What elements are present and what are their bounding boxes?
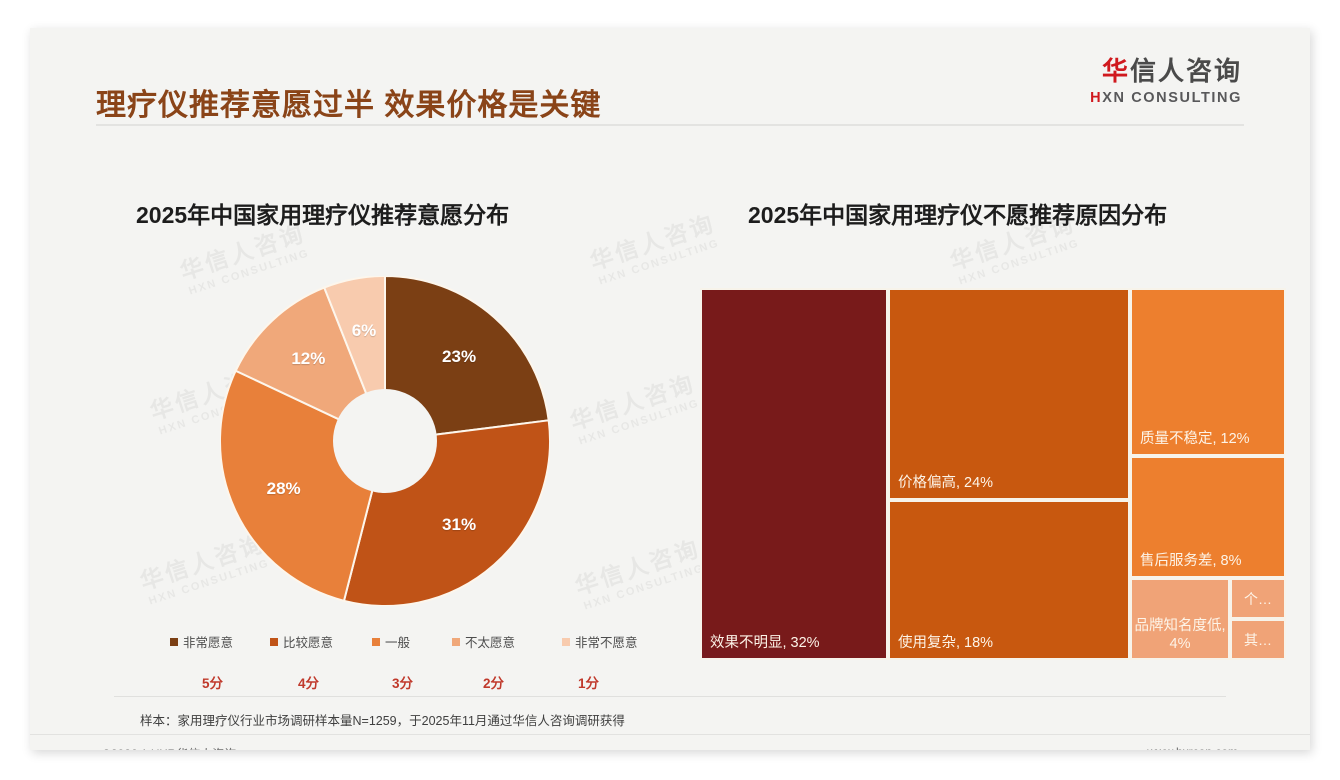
header-divider — [96, 124, 1244, 126]
legend-swatch-icon — [372, 638, 380, 646]
legend-item[interactable]: 非常愿意 — [170, 632, 233, 651]
treemap-tile-label: 质量不稳定, 12% — [1140, 427, 1250, 448]
website-text: www.hxrcon.com — [1147, 745, 1238, 750]
reasons-treemap-chart: 效果不明显, 32%价格偏高, 24%使用复杂, 18%质量不稳定, 12%售后… — [700, 288, 1286, 660]
watermark: 华信人咨询 HXN CONSULTING — [572, 534, 709, 615]
watermark-line2: HXN CONSULTING — [580, 561, 708, 614]
legend-label: 不太愿意 — [465, 632, 515, 651]
legend-swatch-icon — [170, 638, 178, 646]
logo-chinese: 华信人咨询 — [1090, 58, 1242, 84]
donut-slice-label: 6% — [352, 321, 377, 341]
treemap-tile[interactable]: 其… — [1230, 619, 1286, 660]
legend-item[interactable]: 比较愿意 — [270, 632, 333, 651]
watermark-line1: 华信人咨询 — [587, 209, 720, 277]
footnote-divider — [114, 696, 1226, 697]
treemap-tile[interactable]: 效果不明显, 32% — [700, 288, 888, 660]
legend-label: 非常不愿意 — [575, 632, 638, 651]
legend-item[interactable]: 一般 — [372, 632, 410, 651]
left-chart-title: 2025年中国家用理疗仪推荐意愿分布 — [136, 196, 509, 230]
treemap-tile-label: 个… — [1232, 589, 1284, 609]
watermark-line2: HXN CONSULTING — [955, 236, 1083, 289]
logo-english: HXN CONSULTING — [1090, 91, 1242, 106]
treemap-tile-label: 其… — [1232, 630, 1284, 650]
donut-svg — [220, 276, 550, 606]
watermark: 华信人咨询 HXN CONSULTING — [587, 209, 724, 290]
legend-item[interactable]: 不太愿意 — [452, 632, 515, 651]
treemap-tile-label: 价格偏高, 24% — [898, 471, 993, 492]
treemap-tile-label: 品牌知名度低, 4% — [1132, 617, 1228, 653]
copyright-text: ©2026.1 HXR华信人咨询 — [102, 745, 236, 750]
watermark-line2: HXN CONSULTING — [595, 236, 723, 289]
sample-note: 样本：家用理疗仪行业市场调研样本量N=1259，于2025年11月通过华信人咨询… — [140, 710, 625, 729]
donut-slice-label: 31% — [442, 515, 476, 535]
score-label: 5分 — [202, 672, 223, 692]
donut-legend: 非常愿意比较愿意一般不太愿意非常不愿意 — [170, 632, 650, 650]
donut-hole — [333, 389, 437, 493]
logo-h-character: H — [1090, 90, 1102, 106]
score-label: 3分 — [392, 672, 413, 692]
watermark: 华信人咨询 HXN CONSULTING — [567, 369, 704, 450]
slide-footer: ©2026.1 HXR华信人咨询 www.hxrcon.com — [30, 735, 1310, 750]
treemap-tile[interactable]: 售后服务差, 8% — [1130, 456, 1286, 578]
legend-swatch-icon — [452, 638, 460, 646]
watermark-line2: HXN CONSULTING — [575, 396, 703, 449]
legend-item[interactable]: 非常不愿意 — [562, 632, 638, 651]
logo-hua-character: 华 — [1102, 56, 1130, 86]
legend-label: 比较愿意 — [283, 632, 333, 651]
right-chart-title: 2025年中国家用理疗仪不愿推荐原因分布 — [748, 196, 1167, 230]
treemap-tile[interactable]: 质量不稳定, 12% — [1130, 288, 1286, 456]
treemap-tile[interactable]: 使用复杂, 18% — [888, 500, 1130, 660]
score-label: 4分 — [298, 672, 319, 692]
score-row: 5分4分3分2分1分 — [170, 672, 650, 692]
slide-header: 理疗仪推荐意愿过半 效果价格是关键 华信人咨询 HXN CONSULTING — [30, 28, 1310, 122]
logo-chinese-rest: 信人咨询 — [1130, 56, 1242, 86]
treemap-tile[interactable]: 价格偏高, 24% — [888, 288, 1130, 500]
treemap-tile[interactable]: 个… — [1230, 578, 1286, 619]
watermark-line1: 华信人咨询 — [567, 369, 700, 437]
logo-english-rest: XN CONSULTING — [1102, 90, 1242, 106]
slide-canvas: 华信人咨询 HXN CONSULTING 华信人咨询 HXN CONSULTIN… — [30, 28, 1310, 750]
legend-label: 一般 — [385, 632, 410, 651]
donut-slice-label: 28% — [267, 479, 301, 499]
treemap-tile[interactable]: 品牌知名度低, 4% — [1130, 578, 1230, 660]
page-title: 理疗仪推荐意愿过半 效果价格是关键 — [96, 80, 601, 124]
treemap-tile-label: 使用复杂, 18% — [898, 631, 993, 652]
legend-swatch-icon — [270, 638, 278, 646]
score-label: 1分 — [578, 672, 599, 692]
score-label: 2分 — [483, 672, 504, 692]
donut-slice-label: 12% — [291, 349, 325, 369]
recommendation-donut-chart: 23%31%28%12%6% — [220, 276, 550, 606]
company-logo: 华信人咨询 HXN CONSULTING — [1090, 58, 1242, 106]
watermark-line1: 华信人咨询 — [572, 534, 705, 602]
donut-slice-label: 23% — [442, 347, 476, 367]
treemap-tile-label: 售后服务差, 8% — [1140, 549, 1242, 570]
legend-label: 非常愿意 — [183, 632, 233, 651]
legend-swatch-icon — [562, 638, 570, 646]
treemap-tile-label: 效果不明显, 32% — [710, 631, 820, 652]
